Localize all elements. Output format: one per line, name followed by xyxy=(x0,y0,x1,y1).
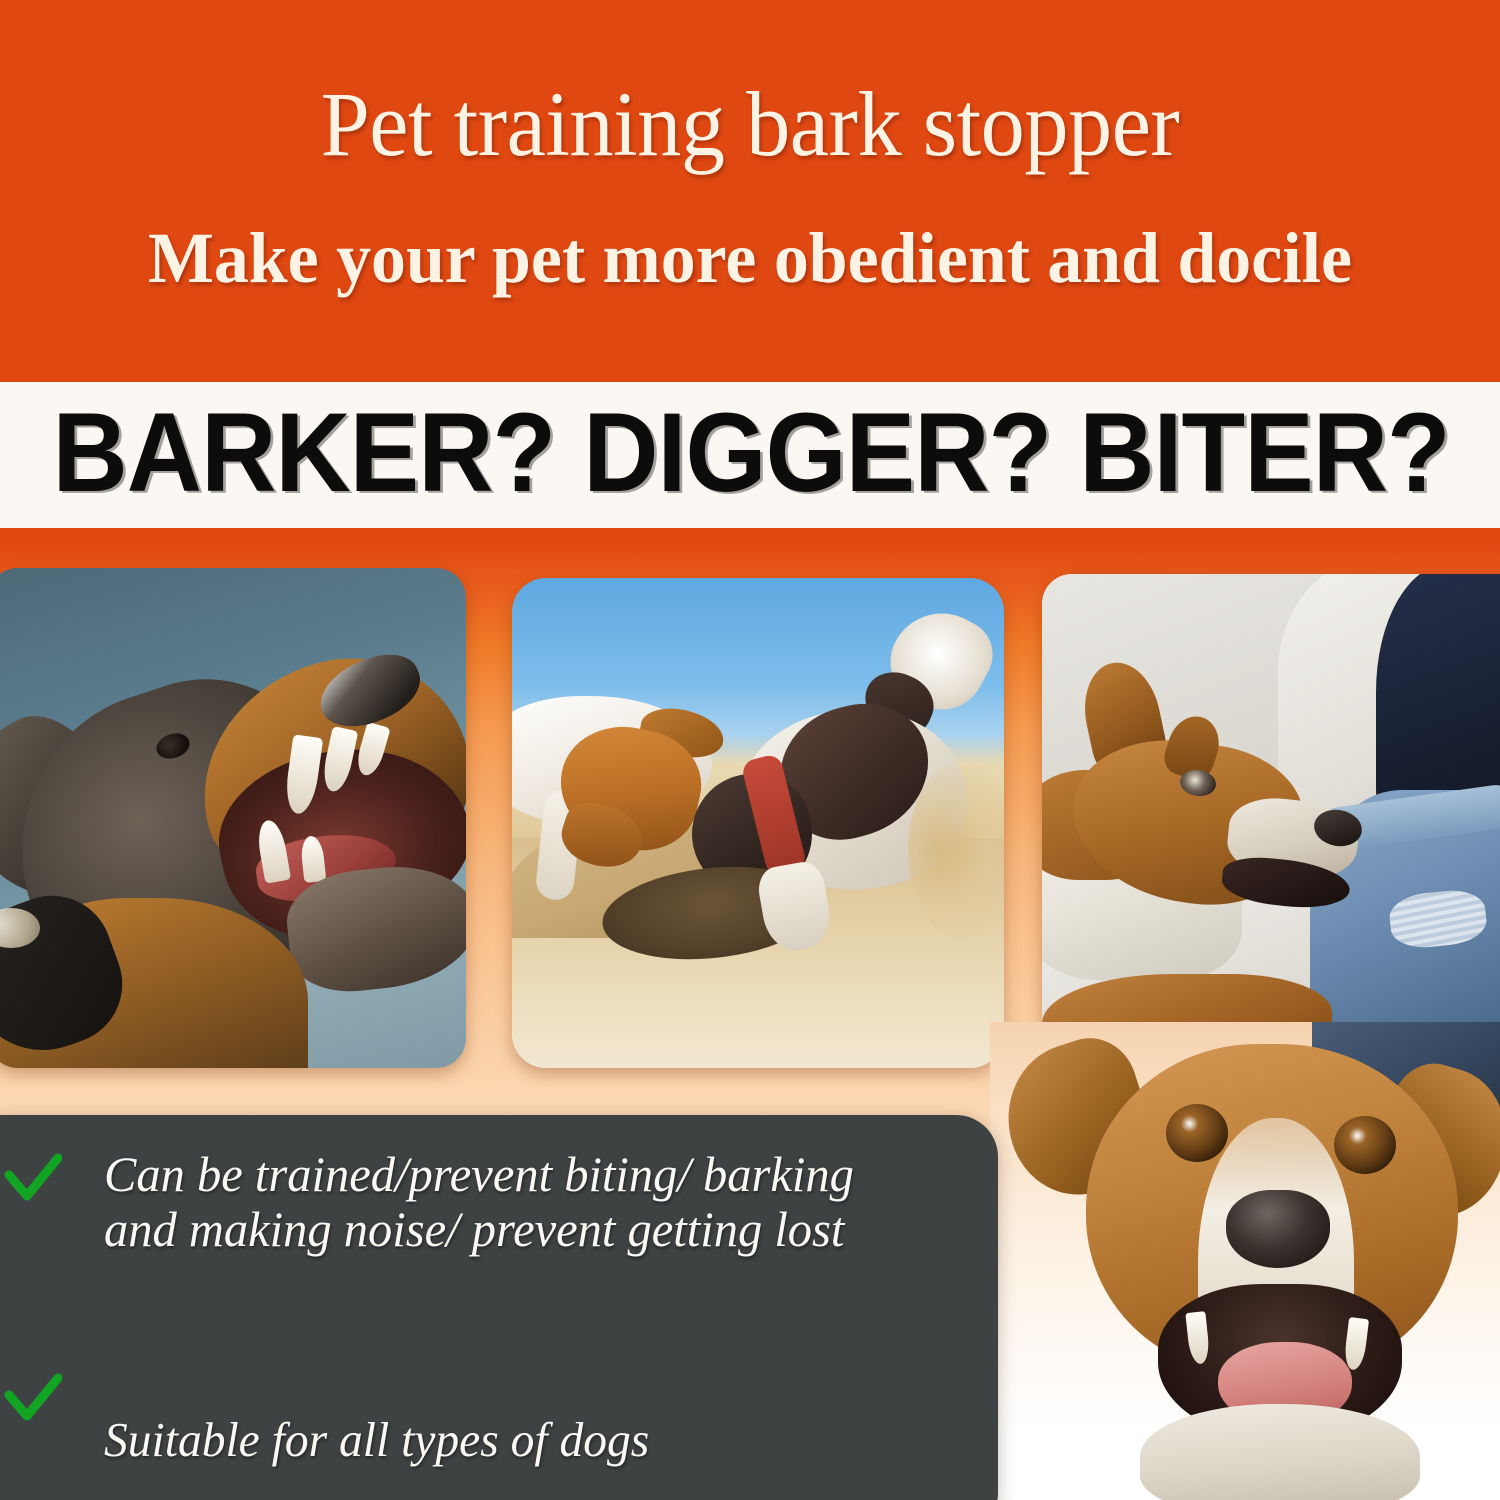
feature-item: Can be trained/prevent biting/ barking a… xyxy=(4,1147,894,1257)
features-panel: Can be trained/prevent biting/ barking a… xyxy=(0,1115,998,1500)
happy-dog-photo xyxy=(990,1022,1500,1500)
question-banner-text: BARKER? DIGGER? BITER? xyxy=(53,397,1448,509)
check-icon xyxy=(4,1371,62,1429)
check-icon xyxy=(4,1151,62,1209)
dog-nose-shape xyxy=(1226,1190,1330,1268)
biting-dog-photo xyxy=(1042,574,1500,1074)
question-banner: BARKER? DIGGER? BITER? xyxy=(0,382,1500,528)
feature-item: Suitable for all types of dogs xyxy=(4,1367,666,1467)
header-banner: Pet training bark stopper Make your pet … xyxy=(0,0,1500,382)
dog-chin-shape xyxy=(1140,1404,1420,1500)
digging-dogs-photo xyxy=(512,578,1004,1068)
feature-label: Suitable for all types of dogs xyxy=(104,1413,649,1467)
dog-left-eye-shape xyxy=(1166,1104,1228,1162)
dog-right-eye-shape xyxy=(1334,1116,1396,1174)
product-subtitle: Make your pet more obedient and docile xyxy=(23,222,1478,294)
barking-dog-photo xyxy=(0,568,466,1068)
feature-label: Can be trained/prevent biting/ barking a… xyxy=(104,1147,870,1257)
product-advertisement-banner: Pet training bark stopper Make your pet … xyxy=(0,0,1500,1500)
product-title: Pet training bark stopper xyxy=(30,78,1470,170)
